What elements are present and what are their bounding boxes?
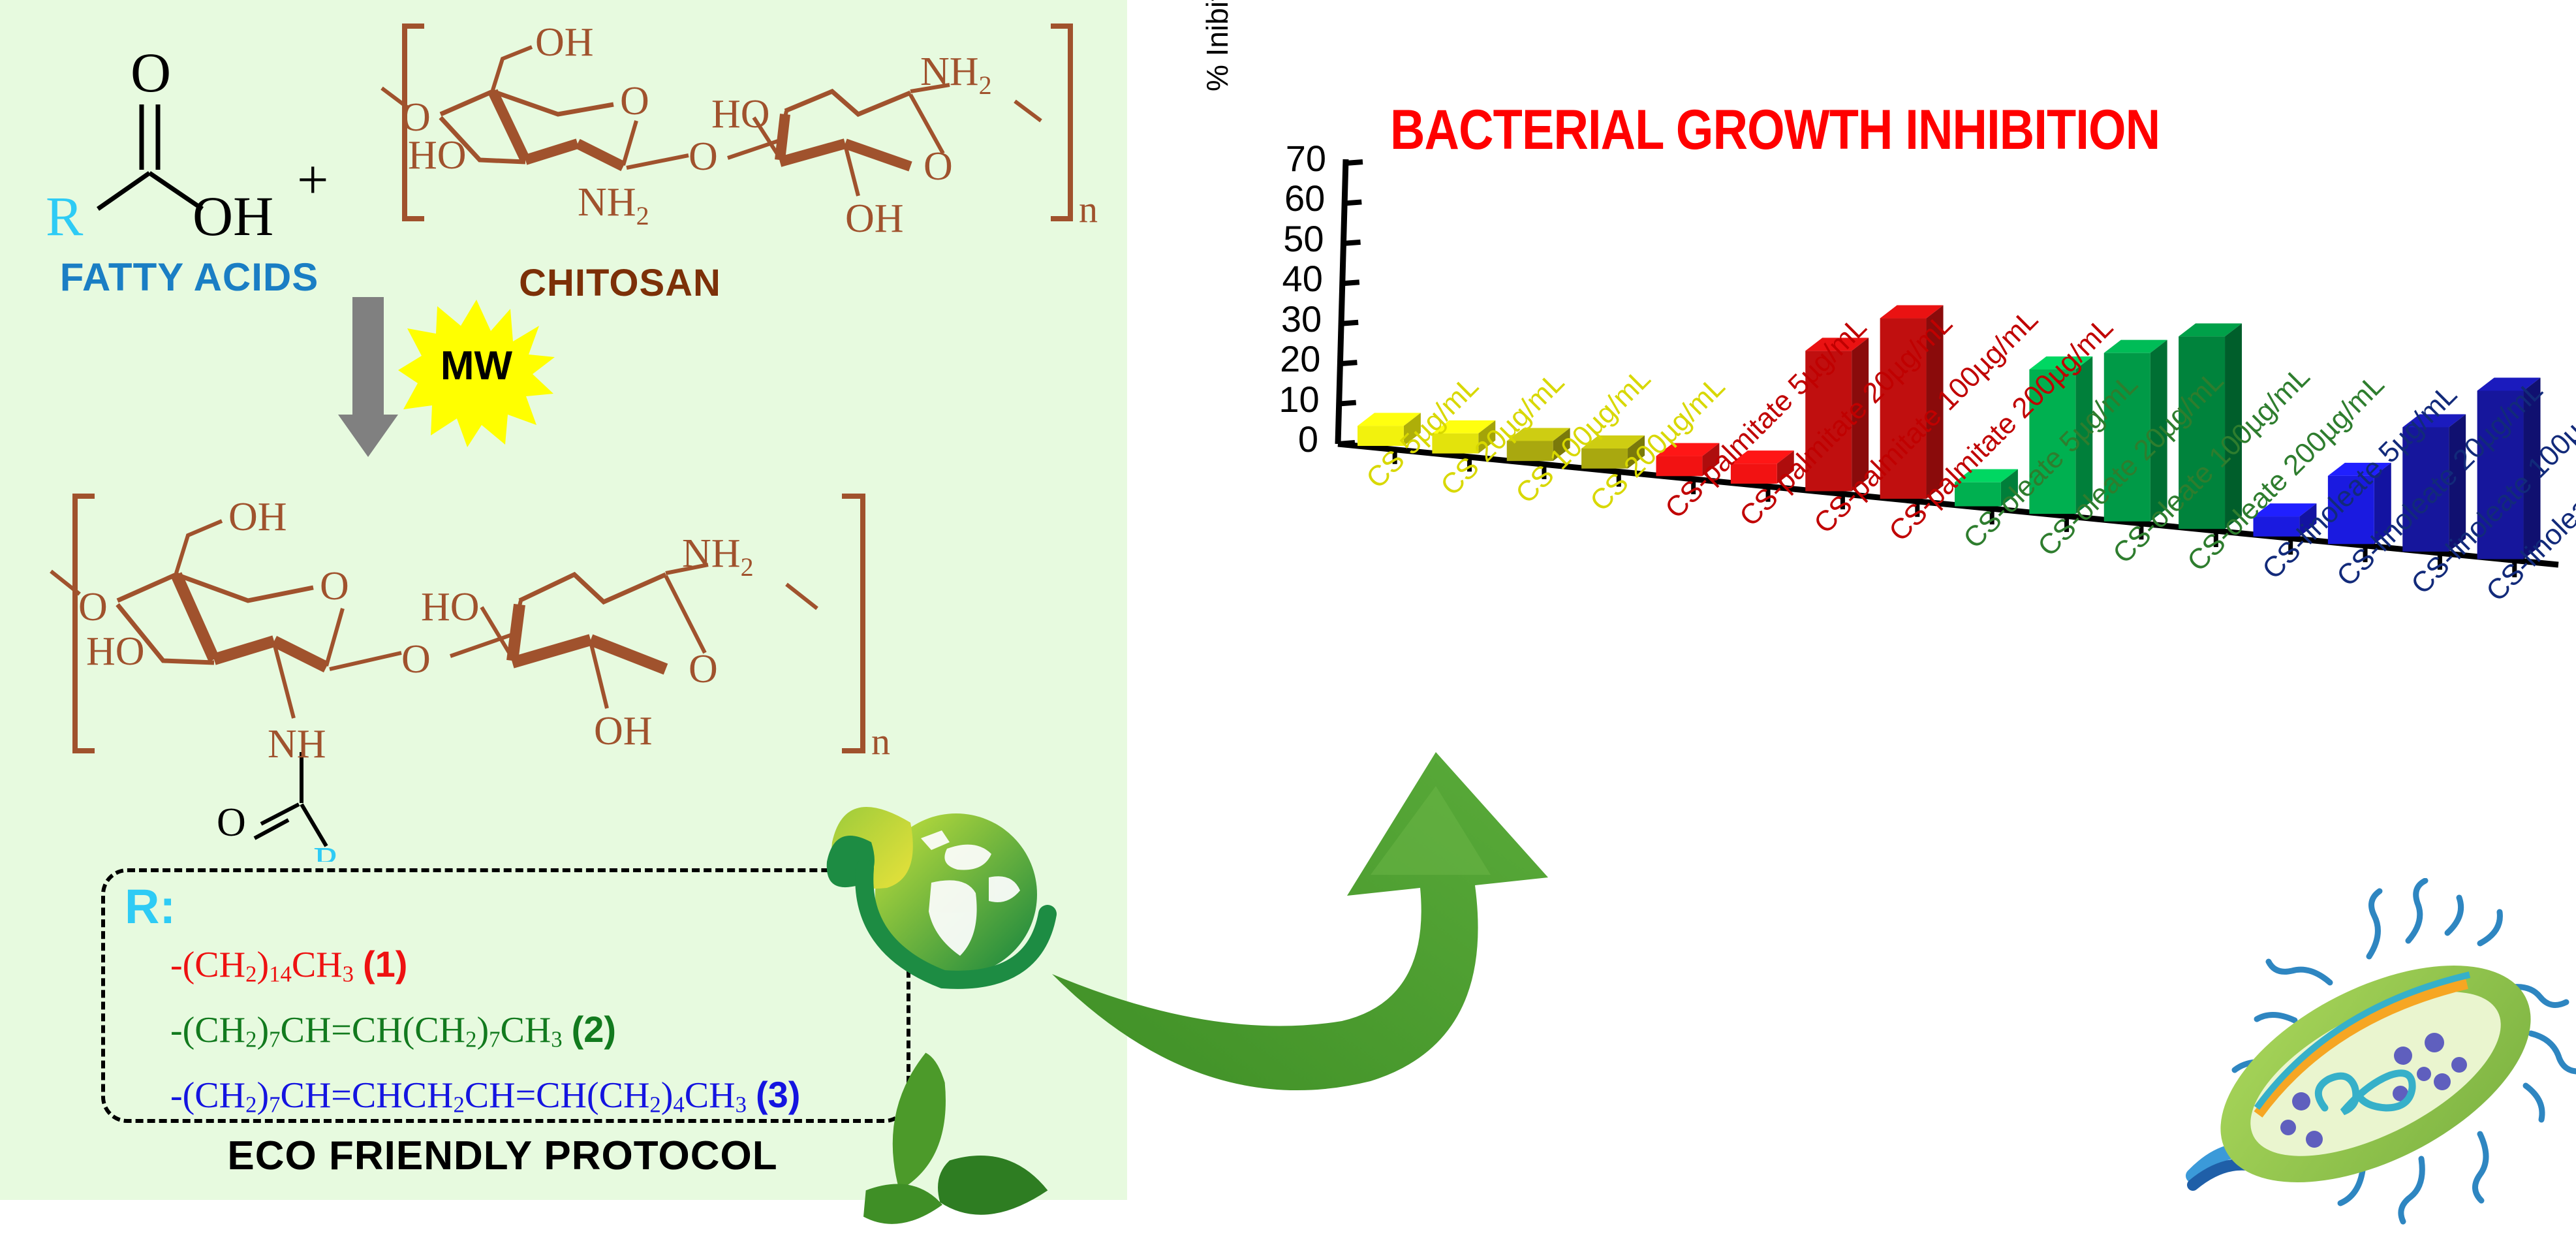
r-group-formula-2: -(CH2)7CH=CH(CH2)7CH3 <box>170 1010 563 1050</box>
chitosan-structure: OH O O HO NH2 O HO NH2 O OH n <box>362 7 1126 287</box>
r-group-tag-3: (3) <box>756 1074 800 1115</box>
product-ring-o-1: O <box>320 564 349 608</box>
product-oh-top: OH <box>228 495 287 539</box>
fatty-acids-label: FATTY ACIDS <box>20 255 359 300</box>
r-group-entry-3: -(CH2)7CH=CHCH2CH=CH(CH2)4CH3 (3) <box>170 1073 800 1118</box>
chitosan-ho-right: HO <box>711 92 770 136</box>
amide-r-group-label: R <box>313 840 341 862</box>
r-group-entry-1: -(CH2)14CH3 (1) <box>170 943 407 988</box>
r-group-tag-2: (2) <box>572 1009 616 1050</box>
carbonyl-oxygen-label: O <box>131 41 171 104</box>
product-nh2: NH2 <box>682 531 754 582</box>
y-axis-title: % Inibition E.coli growth <box>1200 0 1239 91</box>
product-o-left: O <box>78 585 108 629</box>
y-axis-title-plain: % Inibition <box>1200 0 1234 91</box>
chitosan-ring-o-2: O <box>923 144 953 189</box>
product-repeat-n: n <box>871 720 890 763</box>
chitosan-ho-left: HO <box>408 133 467 178</box>
product-ring-o-2: O <box>689 647 718 691</box>
chitosan-oh-top: OH <box>535 20 594 65</box>
microwave-label: MW <box>398 343 555 389</box>
green-leaves-icon <box>842 1045 1057 1240</box>
fatty-acid-structure: O R OH <box>7 13 398 274</box>
r-group-entry-2: -(CH2)7CH=CH(CH2)7CH3 (2) <box>170 1008 616 1053</box>
microwave-burst-icon: MW <box>398 297 555 447</box>
plus-sign: + <box>297 147 329 212</box>
fatty-acid-r-group-label: R <box>46 185 84 247</box>
r-group-tag-1: (1) <box>363 943 407 984</box>
reaction-scheme-panel: O R OH + <box>0 0 1127 1200</box>
product-glycosidic-o: O <box>401 637 431 682</box>
r-group-formula-1: -(CH2)14CH3 <box>170 945 354 985</box>
r-group-formula-3: -(CH2)7CH=CHCH2CH=CH(CH2)4CH3 <box>170 1075 747 1116</box>
eco-process-arrow <box>1044 731 1553 1136</box>
chitosan-nh2-2: NH2 <box>920 50 992 100</box>
r-legend-title: R: <box>125 879 176 934</box>
eco-friendly-protocol-label: ECO FRIENDLY PROTOCOL <box>78 1133 927 1179</box>
hydroxyl-label: OH <box>193 185 273 247</box>
amide-oxygen-label: O <box>217 800 246 845</box>
chitosan-ring-o-1: O <box>620 79 649 123</box>
chitosan-oh-bottom: OH <box>845 197 904 241</box>
e-coli-bacterium-icon <box>2173 878 2576 1260</box>
green-globe-icon <box>819 770 1080 1045</box>
chart-bars <box>1358 306 2541 559</box>
chitosan-glycosidic-o: O <box>689 134 718 179</box>
graphical-abstract: O R OH + <box>0 0 2576 1260</box>
chitosan-repeat-n: n <box>1079 188 1098 230</box>
product-nh-label: NH <box>268 722 326 766</box>
product-ho-right: HO <box>421 585 480 629</box>
product-oh-bottom: OH <box>594 709 653 753</box>
r-group-legend-box: R: -(CH2)14CH3 (1) -(CH2)7CH=CH(CH2)7CH3… <box>101 868 910 1123</box>
chitosan-nh2-1: NH2 <box>578 180 649 230</box>
product-ho-left: HO <box>86 629 145 674</box>
